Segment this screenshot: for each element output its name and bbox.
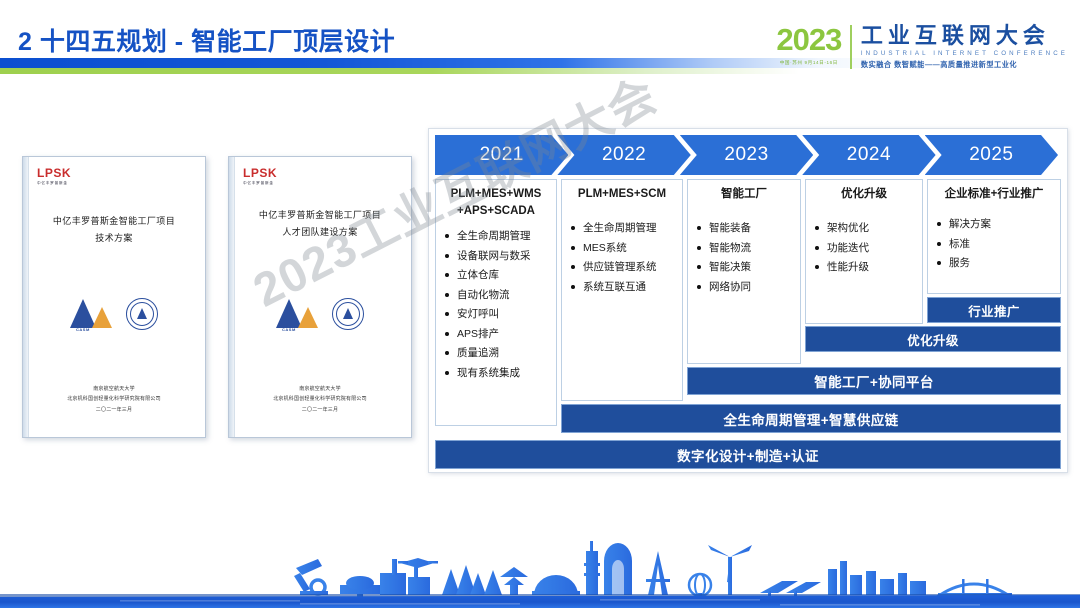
document-cover-talent-plan[interactable]: LPSK 中亿丰罗普斯金 中亿丰罗普斯金智能工厂项目 人才团队建设方案 CASM… [228,156,412,438]
column-heading: 优化升级 [810,186,918,203]
roadmap-column-2025: 企业标准+行业推广 解决方案 标准 服务 [927,179,1061,294]
triangle-orange-shape [92,307,112,328]
conference-year: 2023 [776,24,841,55]
document-footer: 南京航空航天大学 北京机科国创轻量化科学研究院有限公司 二〇二一年三月 [31,384,197,416]
stacked-bar-digital-design-manufacturing[interactable]: 数字化设计+制造+认证 [435,440,1061,469]
timeline-year-2023[interactable]: 2023 [680,135,813,175]
list-item: 性能升级 [814,258,918,278]
lpsk-logo-text: LPSK [37,167,71,179]
timeline-year-2024[interactable]: 2024 [802,135,935,175]
document-emblems: CASM [229,297,411,331]
column-heading-line2: +APS+SCADA [440,203,552,220]
casm-label: CASM [76,327,90,332]
column-heading: 企业标准+行业推广 [932,186,1056,203]
document-footer-line2: 北京机科国创轻量化科学研究院有限公司 [31,394,197,405]
list-item: 网络协同 [696,277,796,297]
roadmap-grid: PLM+MES+WMS +APS+SCADA 全生命周期管理 设备联网与数采 立… [435,179,1061,470]
column-heading: 智能工厂 [692,186,796,203]
column-heading-line1: 优化升级 [810,186,918,203]
document-footer-line3: 二〇二一年三月 [31,405,197,416]
conference-year-block: 2023 中国·苏州 9月14日-16日 [776,24,850,66]
list-item: 解决方案 [936,215,1056,235]
conference-location-date: 中国·苏州 9月14日-16日 [776,60,841,66]
list-item: MES系统 [570,238,678,258]
document-cover-technical-plan[interactable]: LPSK 中亿丰罗普斯金 中亿丰罗普斯金智能工厂项目 技术方案 CASM 南京航… [22,156,206,438]
roadmap-column-2023: 智能工厂 智能装备 智能物流 智能决策 网络协同 [687,179,801,364]
document-footer-line1: 南京航空航天大学 [237,384,403,395]
casm-label: CASM [282,327,296,332]
column-heading: PLM+MES+SCM [566,186,678,203]
lpsk-logo-subtext: 中亿丰罗普斯金 [243,181,277,186]
timeline-chevron-row: 2021 2022 2023 2024 2025 [435,135,1061,175]
document-footer-line2: 北京机科国创轻量化科学研究院有限公司 [237,394,403,405]
roadmap-column-2021: PLM+MES+WMS +APS+SCADA 全生命周期管理 设备联网与数采 立… [435,179,557,426]
column-bullet-list: 全生命周期管理 MES系统 供应链管理系统 系统互联互通 [566,219,678,297]
column-heading-line1: 智能工厂 [692,186,796,203]
list-item: 智能装备 [696,219,796,239]
conference-title-cn: 工业互联网大会 [861,24,1068,47]
stacked-bar-optimization-upgrade[interactable]: 优化升级 [805,326,1061,352]
document-title: 中亿丰罗普斯金智能工厂项目 技术方案 [33,213,195,247]
column-bullet-list: 架构优化 功能迭代 性能升级 [810,219,918,278]
roadmap-column-2024: 优化升级 架构优化 功能迭代 性能升级 [805,179,923,324]
list-item: 全生命周期管理 [444,227,552,247]
casm-triangle-icon: CASM [276,297,318,331]
stacked-bar-industry-promotion[interactable]: 行业推广 [927,297,1061,323]
list-item: 立体仓库 [444,266,552,286]
conference-slogan: 数实融合 数智赋能——高质量推进新型工业化 [861,60,1068,70]
list-item: 安灯呼叫 [444,305,552,325]
list-item: 功能迭代 [814,238,918,258]
triangle-orange-shape [298,307,318,328]
conference-logo: 2023 中国·苏州 9月14日-16日 工业互联网大会 INDUSTRIAL … [776,24,1068,76]
university-seal-icon [332,298,364,330]
stacked-bar-smart-factory-platform[interactable]: 智能工厂+协同平台 [687,367,1061,395]
lpsk-logo: LPSK 中亿丰罗普斯金 [243,167,277,186]
university-seal-icon [126,298,158,330]
document-footer-line1: 南京航空航天大学 [31,384,197,395]
list-item: 系统互联互通 [570,277,678,297]
column-bullet-list: 智能装备 智能物流 智能决策 网络协同 [692,219,796,297]
lpsk-logo-text: LPSK [243,167,277,179]
list-item: 服务 [936,254,1056,274]
roadmap-column-2022: PLM+MES+SCM 全生命周期管理 MES系统 供应链管理系统 系统互联互通 [561,179,683,401]
stacked-bar-lifecycle-supplychain[interactable]: 全生命周期管理+智慧供应链 [561,404,1061,433]
column-heading-line1: PLM+MES+WMS [440,186,552,203]
document-title-line1: 中亿丰罗普斯金智能工厂项目 [33,213,195,230]
document-title-line2: 人才团队建设方案 [239,224,401,241]
timeline-year-2021[interactable]: 2021 [435,135,568,175]
roadmap-diagram: 2021 2022 2023 2024 2025 PLM+MES+WMS +AP… [428,128,1068,473]
document-title-line2: 技术方案 [33,230,195,247]
list-item: 智能决策 [696,258,796,278]
skyline-decoration [0,513,1080,608]
column-bullet-list: 全生命周期管理 设备联网与数采 立体仓库 自动化物流 安灯呼叫 APS排产 质量… [440,227,552,383]
list-item: 自动化物流 [444,285,552,305]
list-item: 供应链管理系统 [570,258,678,278]
page-title: 2 十四五规划 - 智能工厂顶层设计 [18,22,395,58]
list-item: 智能物流 [696,238,796,258]
timeline-year-2025[interactable]: 2025 [925,135,1058,175]
column-bullet-list: 解决方案 标准 服务 [932,215,1056,274]
column-heading-line1: PLM+MES+SCM [566,186,678,203]
timeline-year-2022[interactable]: 2022 [557,135,690,175]
column-heading: PLM+MES+WMS +APS+SCADA [440,186,552,221]
column-heading-line1: 企业标准+行业推广 [932,186,1056,203]
list-item: 现有系统集成 [444,363,552,383]
list-item: 架构优化 [814,219,918,239]
document-footer-line3: 二〇二一年三月 [237,405,403,416]
document-title-line1: 中亿丰罗普斯金智能工厂项目 [239,207,401,224]
document-title: 中亿丰罗普斯金智能工厂项目 人才团队建设方案 [239,207,401,241]
list-item: 设备联网与数采 [444,246,552,266]
list-item: 全生命周期管理 [570,219,678,239]
conference-title-block: 工业互联网大会 INDUSTRIAL INTERNET CONFERENCE 数… [852,24,1068,70]
conference-title-en: INDUSTRIAL INTERNET CONFERENCE [861,50,1068,57]
list-item: 标准 [936,234,1056,254]
lpsk-logo: LPSK 中亿丰罗普斯金 [37,167,71,186]
document-emblems: CASM [23,297,205,331]
list-item: 质量追溯 [444,344,552,364]
list-item: APS排产 [444,324,552,344]
casm-triangle-icon: CASM [70,297,112,331]
document-footer: 南京航空航天大学 北京机科国创轻量化科学研究院有限公司 二〇二一年三月 [237,384,403,416]
lpsk-logo-subtext: 中亿丰罗普斯金 [37,181,71,186]
